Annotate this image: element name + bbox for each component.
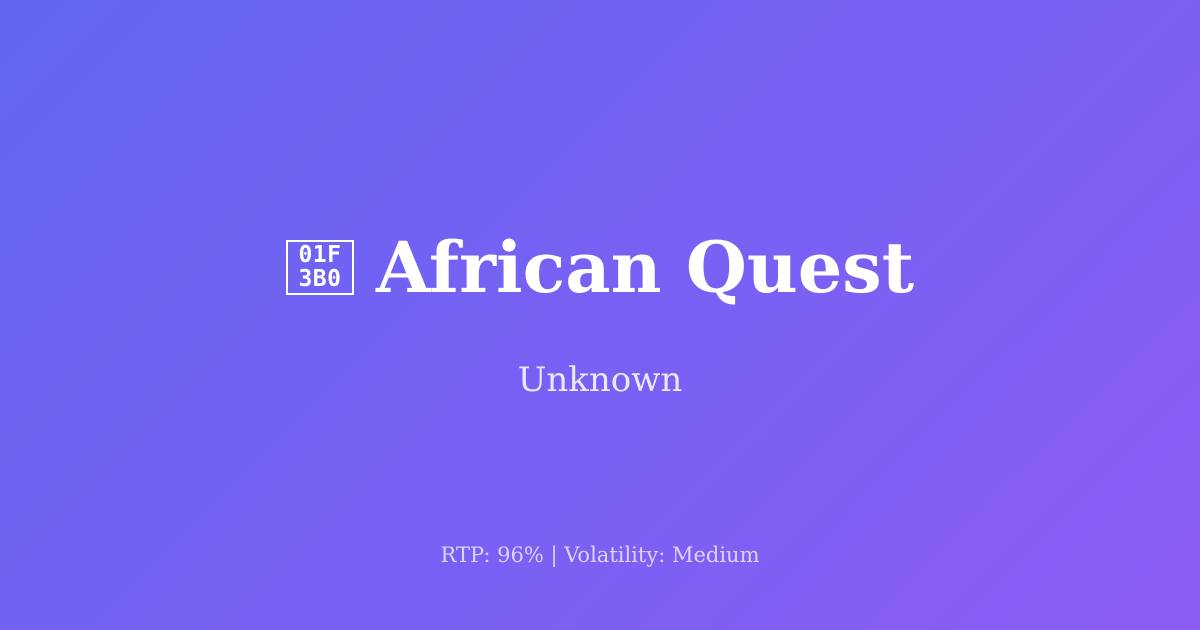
slot-machine-icon-codepoint-high: 01F [298, 243, 341, 267]
og-share-card: 01F 3B0 African Quest Unknown RTP: 96% |… [0, 0, 1200, 630]
title-row: 01F 3B0 African Quest [286, 231, 914, 305]
game-stats-footer: RTP: 96% | Volatility: Medium [0, 543, 1200, 568]
game-title: African Quest [376, 231, 914, 305]
slot-machine-icon: 01F 3B0 [286, 240, 354, 295]
game-provider-subtitle: Unknown [518, 362, 683, 399]
slot-machine-icon-codepoint-low: 3B0 [298, 267, 341, 291]
